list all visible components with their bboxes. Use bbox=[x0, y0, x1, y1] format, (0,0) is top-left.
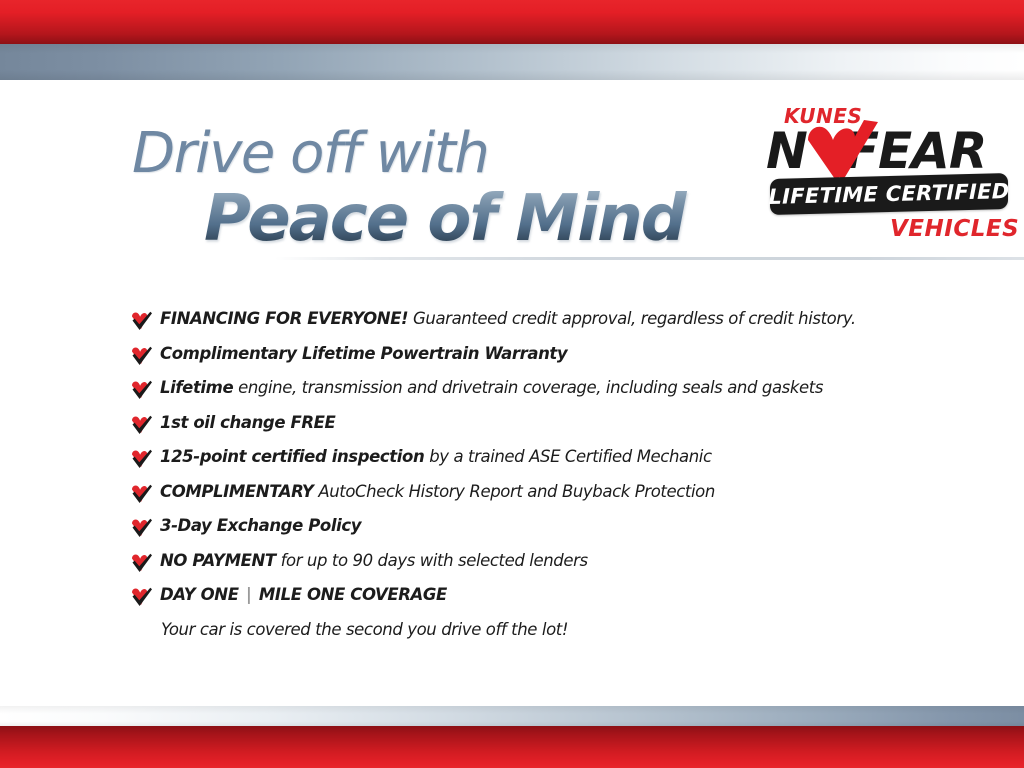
feature-text-bold: FINANCING FOR EVERYONE! bbox=[160, 309, 408, 328]
kunes-no-fear-logo: KUNES NFEAR LIFETIME CERTIFIED VEHICLES bbox=[762, 104, 1014, 250]
feature-item: COMPLIMENTARY AutoCheck History Report a… bbox=[131, 481, 961, 505]
heart-check-bullet-icon bbox=[131, 311, 153, 332]
heart-check-bullet-icon bbox=[131, 484, 153, 505]
heart-check-bullet-icon bbox=[131, 380, 153, 401]
top-red-band bbox=[0, 0, 1024, 44]
feature-text-bold: 1st oil change FREE bbox=[160, 413, 335, 432]
headline-divider bbox=[275, 257, 1024, 260]
feature-text: 125-point certified inspection by a trai… bbox=[160, 446, 712, 467]
top-gray-band-shading bbox=[0, 44, 1024, 80]
lifetime-certified-bar: LIFETIME CERTIFIED bbox=[770, 173, 1008, 215]
feature-text-separator: | bbox=[239, 585, 259, 604]
feature-item: NO PAYMENT for up to 90 days with select… bbox=[131, 550, 961, 574]
feature-text-bold: 3-Day Exchange Policy bbox=[160, 516, 361, 535]
feature-text-normal: by a trained ASE Certified Mechanic bbox=[424, 447, 711, 466]
feature-text: Complimentary Lifetime Powertrain Warran… bbox=[160, 343, 567, 364]
feature-text-normal: engine, transmission and drivetrain cove… bbox=[233, 378, 823, 397]
feature-text: FINANCING FOR EVERYONE! Guaranteed credi… bbox=[160, 308, 856, 329]
headline-block: Drive off with Peace of Mind bbox=[132, 124, 752, 252]
feature-text-bold-secondary: MILE ONE COVERAGE bbox=[259, 585, 447, 604]
feature-text-normal: for up to 90 days with selected lenders bbox=[276, 551, 588, 570]
bottom-gray-band-shading bbox=[0, 706, 1024, 728]
feature-text-normal: AutoCheck History Report and Buyback Pro… bbox=[313, 482, 714, 501]
feature-text-normal: Guaranteed credit approval, regardless o… bbox=[408, 309, 856, 328]
feature-text-bold: 125-point certified inspection bbox=[160, 447, 424, 466]
logo-letter-n: N bbox=[766, 122, 807, 180]
feature-item: FINANCING FOR EVERYONE! Guaranteed credi… bbox=[131, 308, 961, 332]
feature-row: FINANCING FOR EVERYONE! Guaranteed credi… bbox=[131, 308, 961, 332]
heart-check-bullet-icon bbox=[131, 415, 153, 436]
feature-text: DAY ONE | MILE ONE COVERAGE bbox=[160, 584, 447, 605]
headline-line-two: Peace of Mind bbox=[204, 186, 752, 252]
feature-item: 125-point certified inspection by a trai… bbox=[131, 446, 961, 470]
feature-text-bold: Complimentary Lifetime Powertrain Warran… bbox=[160, 344, 567, 363]
lifetime-certified-label: LIFETIME CERTIFIED bbox=[770, 173, 1008, 215]
feature-text: 3-Day Exchange Policy bbox=[160, 515, 361, 536]
heart-check-bullet-icon bbox=[131, 553, 153, 574]
feature-subtext: Your car is covered the second you drive… bbox=[161, 619, 961, 641]
feature-list: FINANCING FOR EVERYONE! Guaranteed credi… bbox=[131, 308, 961, 641]
feature-text: Lifetime engine, transmission and drivet… bbox=[160, 377, 823, 398]
feature-item: DAY ONE | MILE ONE COVERAGEYour car is c… bbox=[131, 584, 961, 641]
feature-item: 3-Day Exchange Policy bbox=[131, 515, 961, 539]
feature-text-bold: DAY ONE bbox=[160, 585, 239, 604]
heart-check-bullet-icon bbox=[131, 587, 153, 608]
feature-item: Complimentary Lifetime Powertrain Warran… bbox=[131, 343, 961, 367]
feature-row: Complimentary Lifetime Powertrain Warran… bbox=[131, 343, 961, 367]
feature-item: 1st oil change FREE bbox=[131, 412, 961, 436]
feature-row: 125-point certified inspection by a trai… bbox=[131, 446, 961, 470]
feature-text-bold: NO PAYMENT bbox=[160, 551, 276, 570]
heart-check-bullet-icon bbox=[131, 518, 153, 539]
feature-item: Lifetime engine, transmission and drivet… bbox=[131, 377, 961, 401]
feature-text: 1st oil change FREE bbox=[160, 412, 335, 433]
feature-row: 1st oil change FREE bbox=[131, 412, 961, 436]
feature-text-bold: Lifetime bbox=[160, 378, 233, 397]
heart-check-bullet-icon bbox=[131, 449, 153, 470]
feature-row: 3-Day Exchange Policy bbox=[131, 515, 961, 539]
feature-row: Lifetime engine, transmission and drivet… bbox=[131, 377, 961, 401]
headline-line-one: Drive off with bbox=[132, 124, 752, 184]
heart-check-bullet-icon bbox=[131, 346, 153, 367]
feature-row: DAY ONE | MILE ONE COVERAGE bbox=[131, 584, 961, 608]
bottom-red-band bbox=[0, 726, 1024, 768]
feature-text: NO PAYMENT for up to 90 days with select… bbox=[160, 550, 588, 571]
feature-text: COMPLIMENTARY AutoCheck History Report a… bbox=[160, 481, 715, 502]
feature-row: NO PAYMENT for up to 90 days with select… bbox=[131, 550, 961, 574]
feature-text-bold: COMPLIMENTARY bbox=[160, 482, 313, 501]
feature-row: COMPLIMENTARY AutoCheck History Report a… bbox=[131, 481, 961, 505]
advertisement-banner: Drive off with Peace of Mind KUNES NFEAR… bbox=[0, 0, 1024, 768]
logo-vehicles-label: VEHICLES bbox=[890, 216, 1019, 242]
